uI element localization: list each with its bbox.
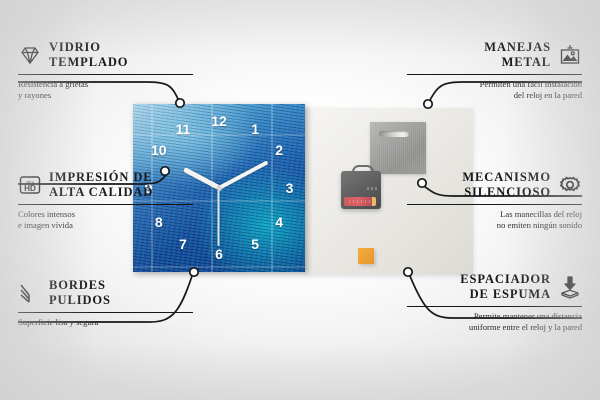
callout-title-line1: VIDRIO [49, 40, 128, 55]
callout-desc-line2: y rayones [18, 90, 193, 101]
callout-desc-line2: del reloj en la pared [407, 90, 582, 101]
gear-icon [558, 173, 582, 197]
callout-header: MANEJAS METAL [407, 40, 582, 71]
callout-header: ultra HD IMPRESIÓN DE ALTA CALIDAD [18, 170, 193, 201]
callout-title-line2: METAL [484, 55, 551, 70]
callout-mecanismo-silencioso: MECANISMO SILENCIOSO Las manecillas del … [407, 170, 582, 232]
mechanism-hanger-loop [352, 165, 374, 176]
callout-title-line1: ESPACIADOR [460, 272, 551, 287]
clock-numeral-5: 5 [251, 237, 259, 251]
callout-rule [18, 74, 193, 75]
callout-title-line2: DE ESPUMA [460, 287, 551, 302]
callout-title-line1: IMPRESIÓN DE [49, 170, 153, 185]
battery [344, 197, 376, 206]
callout-desc-line1: Resistencia a grietas [18, 79, 193, 90]
mechanism-detail [367, 187, 377, 190]
callout-header: VIDRIO TEMPLADO [18, 40, 193, 71]
callout-desc-line2: e imagen vívida [18, 220, 193, 231]
clock-numeral-12: 12 [211, 114, 227, 128]
callout-rule [18, 204, 193, 205]
clock-numeral-1: 1 [251, 122, 259, 136]
callout-desc-line1: Permite mantener una distancia [407, 311, 582, 322]
callout-impresion-alta-calidad: ultra HD IMPRESIÓN DE ALTA CALIDAD Color… [18, 170, 193, 232]
callout-desc-line2: no emiten ningún sonido [407, 220, 582, 231]
callout-desc-line1: Las manecillas del reloj [407, 209, 582, 220]
callout-vidrio-templado: VIDRIO TEMPLADO Resistencia a grietas y … [18, 40, 193, 102]
callout-title-line2: PULIDOS [49, 293, 111, 308]
callout-header: MECANISMO SILENCIOSO [407, 170, 582, 201]
plate-keyhole-slot [379, 131, 409, 137]
callout-bordes-pulidos: BORDES PULIDOS Superficie lisa y segura [18, 278, 193, 328]
clock-numeral-10: 10 [151, 143, 167, 157]
callout-title-line2: SILENCIOSO [462, 185, 551, 200]
clock-numeral-7: 7 [179, 237, 187, 251]
callout-rule [407, 204, 582, 205]
metal-hanger-plate [370, 122, 426, 174]
svg-text:HD: HD [24, 184, 36, 193]
polished-edges-icon [18, 281, 42, 305]
plate-texture [370, 122, 426, 174]
wall-frame-icon [558, 43, 582, 67]
callout-desc-line1: Superficie lisa y segura [18, 317, 193, 328]
callout-title-line2: TEMPLADO [49, 55, 128, 70]
clock-numeral-3: 3 [286, 181, 294, 195]
callout-desc-line2: uniforme entre el reloj y la pared [407, 322, 582, 333]
callout-rule [407, 74, 582, 75]
clock-numeral-4: 4 [275, 215, 283, 229]
foam-spacer-icon [558, 275, 582, 299]
clock-numeral-11: 11 [175, 122, 190, 136]
callout-rule [18, 312, 193, 313]
clock-center-pin [217, 186, 222, 191]
callout-title-line1: MECANISMO [462, 170, 551, 185]
callout-title-line1: MANEJAS [484, 40, 551, 55]
clock-mechanism [341, 171, 381, 209]
callout-rule [407, 306, 582, 307]
clock-numeral-2: 2 [275, 143, 283, 157]
infographic-canvas: 12 1 2 3 4 5 6 7 8 9 10 11 [0, 0, 600, 400]
callout-manejas-metal: MANEJAS METAL Permiten una fácil instala… [407, 40, 582, 102]
diamond-icon [18, 43, 42, 67]
callout-espaciador-de-espuma: ESPACIADOR DE ESPUMA Permite mantener un… [407, 272, 582, 334]
callout-title-line2: ALTA CALIDAD [49, 185, 153, 200]
ultra-hd-icon: ultra HD [18, 173, 42, 197]
callout-header: ESPACIADOR DE ESPUMA [407, 272, 582, 303]
callout-desc-line1: Colores intensos [18, 209, 193, 220]
callout-header: BORDES PULIDOS [18, 278, 193, 309]
callout-title-line1: BORDES [49, 278, 111, 293]
foam-spacer [358, 248, 374, 264]
callout-desc-line1: Permiten una fácil instalación [407, 79, 582, 90]
clock-numeral-6: 6 [215, 247, 223, 261]
